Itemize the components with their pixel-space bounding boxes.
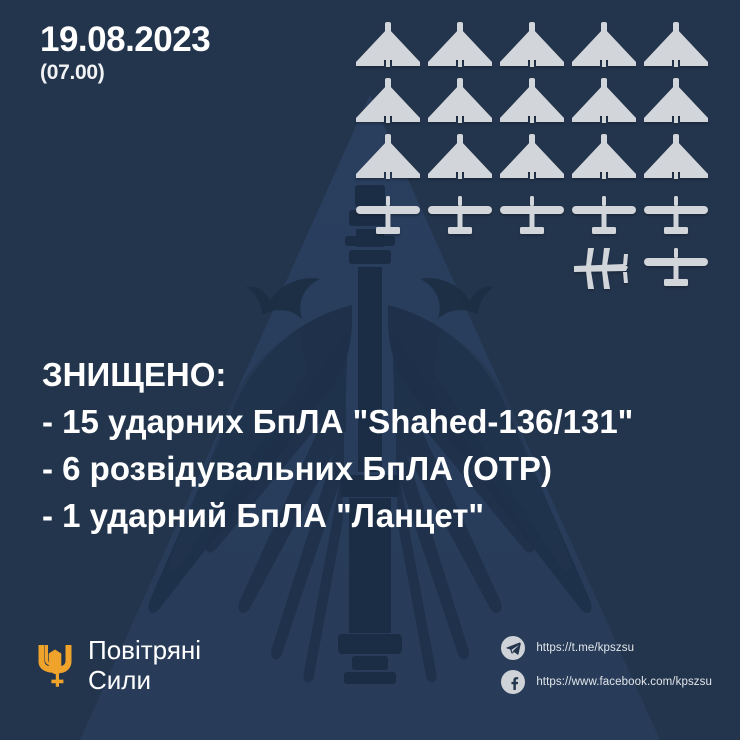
destroyed-report-block: ЗНИЩЕНО: - 15 ударних БпЛА "Shahed-136/1…	[42, 352, 702, 539]
facebook-link[interactable]: https://www.facebook.com/kpszsu	[501, 670, 712, 694]
shahed-drone-icon	[640, 78, 712, 134]
infographic-poster: 19.08.2023 (07.00)	[0, 0, 740, 740]
shahed-drone-icon	[424, 78, 496, 134]
drone-row-recon-1	[352, 190, 712, 242]
report-item-shahed: - 15 ударних БпЛА "Shahed-136/131"	[42, 399, 702, 446]
drone-row-shahed-3	[352, 134, 712, 190]
shahed-drone-icon	[352, 22, 424, 78]
header-date-block: 19.08.2023 (07.00)	[40, 22, 210, 84]
shahed-drone-icon	[352, 78, 424, 134]
facebook-icon	[501, 670, 525, 694]
lancet-drone-icon	[568, 242, 640, 294]
report-date: 19.08.2023	[40, 22, 210, 59]
shahed-drone-icon	[496, 78, 568, 134]
drone-row-shahed-2	[352, 78, 712, 134]
shahed-drone-icon	[424, 134, 496, 190]
drone-row-lancet-recon	[352, 242, 712, 294]
shahed-drone-icon	[496, 134, 568, 190]
brand-line-2: Сили	[88, 665, 201, 696]
telegram-url: https://t.me/kpszsu	[536, 642, 634, 654]
shahed-drone-icon	[568, 78, 640, 134]
brand-name: Повітряні Сили	[88, 635, 201, 696]
drone-pictogram-grid	[352, 22, 712, 294]
social-links: https://t.me/kpszsu https://www.facebook…	[501, 636, 712, 694]
recon-drone-icon	[640, 190, 712, 242]
shahed-drone-icon	[496, 22, 568, 78]
shahed-drone-icon	[640, 134, 712, 190]
telegram-icon	[501, 636, 525, 660]
report-heading: ЗНИЩЕНО:	[42, 352, 702, 399]
shahed-drone-icon	[640, 22, 712, 78]
recon-drone-icon	[640, 242, 712, 294]
drone-row-shahed-1	[352, 22, 712, 78]
shahed-drone-icon	[568, 134, 640, 190]
recon-drone-icon	[352, 190, 424, 242]
shahed-drone-icon	[424, 22, 496, 78]
report-time: (07.00)	[40, 61, 210, 84]
recon-drone-icon	[424, 190, 496, 242]
shahed-drone-icon	[352, 134, 424, 190]
brand-line-1: Повітряні	[88, 635, 201, 666]
facebook-url: https://www.facebook.com/kpszsu	[536, 676, 712, 688]
brand-block: Повітряні Сили	[38, 635, 201, 696]
recon-drone-icon	[496, 190, 568, 242]
shahed-drone-icon	[568, 22, 640, 78]
recon-drone-icon	[568, 190, 640, 242]
trident-icon	[38, 643, 72, 687]
telegram-link[interactable]: https://t.me/kpszsu	[501, 636, 712, 660]
report-item-recon: - 6 розвідувальних БпЛА (ОТР)	[42, 446, 702, 493]
report-item-lancet: - 1 ударний БпЛА "Ланцет"	[42, 493, 702, 540]
